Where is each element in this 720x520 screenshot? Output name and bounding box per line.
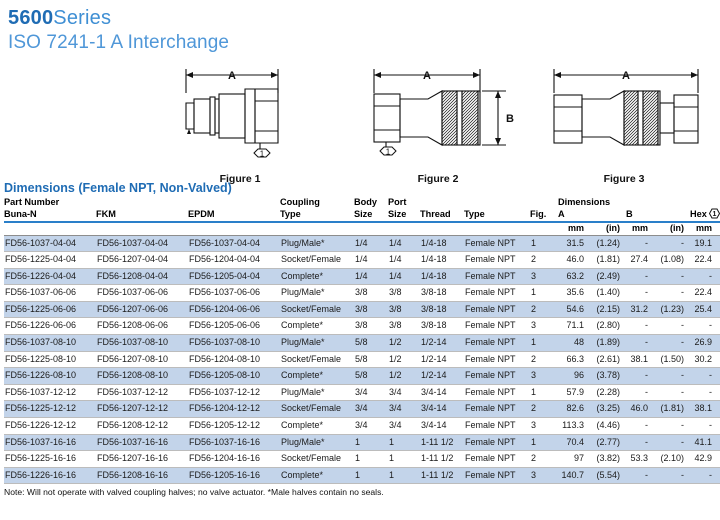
cell-figure-ref: 3 — [530, 418, 558, 435]
table-header-row-2: Buna-N FKM EPDM Type Size Size Thread Ty… — [4, 208, 720, 220]
cell-dim-b-mm: 27.4 — [626, 252, 654, 269]
cell-dim-a-mm: 35.6 — [558, 285, 590, 302]
cell-figure-ref: 3 — [530, 467, 558, 484]
cell-port-size: 1/4 — [388, 235, 420, 252]
table-row: FD56-1037-08-10FD56-1037-08-10FD56-1037-… — [4, 335, 720, 352]
cell-coupling-type: Socket/Female — [280, 252, 354, 269]
cell-coupling-type: Complete* — [280, 467, 354, 484]
cell-part-number-epdm: FD56-1037-04-04 — [188, 235, 280, 252]
table-row: FD56-1037-16-16FD56-1037-16-16FD56-1037-… — [4, 434, 720, 451]
cell-thread: 1/4-18 — [420, 235, 464, 252]
cell-dim-a-mm: 48 — [558, 335, 590, 352]
cell-dim-hex-mm: 30.2 — [690, 351, 718, 368]
svg-text:1: 1 — [260, 150, 265, 159]
cell-dim-hex-mm: 22.4 — [690, 285, 718, 302]
table-row: FD56-1226-12-12FD56-1208-12-12FD56-1205-… — [4, 418, 720, 435]
cell-part-number-epdm: FD56-1204-04-04 — [188, 252, 280, 269]
table-footnote: Note: Will not operate with valved coupl… — [4, 487, 720, 497]
cell-type: Female NPT — [464, 418, 530, 435]
cell-dim-a-in: (1.40) — [590, 285, 626, 302]
cell-dim-b-mm: - — [626, 368, 654, 385]
cell-thread: 3/8-18 — [420, 285, 464, 302]
cell-dim-hex-mm: - — [690, 467, 718, 484]
cell-type: Female NPT — [464, 252, 530, 269]
cell-body-size: 1 — [354, 451, 388, 468]
cell-dim-hex-mm: - — [690, 368, 718, 385]
cell-dim-b-mm: - — [626, 335, 654, 352]
cell-type: Female NPT — [464, 451, 530, 468]
cell-part-number-buna: FD56-1226-16-16 — [4, 467, 96, 484]
cell-dim-a-mm: 140.7 — [558, 467, 590, 484]
cell-part-number-fkm: FD56-1207-08-10 — [96, 351, 188, 368]
cell-thread: 1/4-18 — [420, 252, 464, 269]
cell-dim-hex-mm: 42.9 — [690, 451, 718, 468]
figure-1: 1 A Figure 1 — [160, 61, 320, 185]
cell-part-number-epdm: FD56-1205-04-04 — [188, 268, 280, 285]
cell-type: Female NPT — [464, 318, 530, 335]
figure-1-callout: 1 — [254, 149, 270, 159]
cell-type: Female NPT — [464, 235, 530, 252]
header-body-size-1: Body — [354, 197, 388, 208]
cell-part-number-fkm: FD56-1037-08-10 — [96, 335, 188, 352]
cell-dim-b-in: - — [654, 318, 690, 335]
cell-type: Female NPT — [464, 268, 530, 285]
figure-2-dim-b: B — [506, 113, 514, 125]
cell-dim-b-in: - — [654, 285, 690, 302]
cell-part-number-fkm: FD56-1207-12-12 — [96, 401, 188, 418]
cell-dim-a-in: (5.54) — [590, 467, 626, 484]
cell-dim-b-mm: - — [626, 384, 654, 401]
cell-dim-a-mm: 96 — [558, 368, 590, 385]
cell-part-number-buna: FD56-1225-06-06 — [4, 301, 96, 318]
table-row: FD56-1226-16-16FD56-1208-16-16FD56-1205-… — [4, 467, 720, 484]
figure-gallery: 1 A Figure 1 — [0, 61, 720, 181]
header-thread: Thread — [420, 208, 464, 220]
cell-type: Female NPT — [464, 301, 530, 318]
cell-type: Female NPT — [464, 335, 530, 352]
cell-part-number-fkm: FD56-1037-12-12 — [96, 384, 188, 401]
cell-port-size: 3/8 — [388, 318, 420, 335]
cell-part-number-fkm: FD56-1207-06-06 — [96, 301, 188, 318]
title-line-primary: 5600Series — [8, 6, 720, 30]
cell-body-size: 3/8 — [354, 301, 388, 318]
cell-dim-a-mm: 82.6 — [558, 401, 590, 418]
cell-dim-hex-mm: - — [690, 268, 718, 285]
cell-part-number-buna: FD56-1226-08-10 — [4, 368, 96, 385]
cell-dim-b-mm: - — [626, 467, 654, 484]
svg-text:1: 1 — [712, 211, 716, 218]
cell-port-size: 1/4 — [388, 268, 420, 285]
cell-body-size: 3/8 — [354, 285, 388, 302]
cell-thread: 1/2-14 — [420, 335, 464, 352]
title-subtitle: ISO 7241-1 A Interchange — [8, 31, 720, 55]
cell-body-size: 3/4 — [354, 384, 388, 401]
cell-dim-hex-mm: 19.1 — [690, 235, 718, 252]
cell-dim-a-in: (4.46) — [590, 418, 626, 435]
figure-1-caption: Figure 1 — [160, 173, 320, 185]
cell-coupling-type: Plug/Male* — [280, 235, 354, 252]
cell-dim-b-mm: - — [626, 235, 654, 252]
cell-body-size: 3/8 — [354, 318, 388, 335]
unit-a-mm: mm — [558, 222, 590, 234]
cell-dim-a-in: (2.15) — [590, 301, 626, 318]
cell-port-size: 3/8 — [388, 301, 420, 318]
cell-dim-a-mm: 97 — [558, 451, 590, 468]
unit-a-in: (in) — [590, 222, 626, 234]
table-units-row: mm (in) mm (in) mm (in) — [4, 222, 720, 234]
cell-type: Female NPT — [464, 434, 530, 451]
cell-part-number-fkm: FD56-1207-04-04 — [96, 252, 188, 269]
cell-body-size: 1/4 — [354, 268, 388, 285]
figure-1-drawing: 1 A — [160, 61, 320, 171]
cell-body-size: 1 — [354, 467, 388, 484]
cell-part-number-epdm: FD56-1204-06-06 — [188, 301, 280, 318]
cell-part-number-fkm: FD56-1208-06-06 — [96, 318, 188, 335]
cell-coupling-type: Plug/Male* — [280, 384, 354, 401]
cell-dim-b-in: (1.81) — [654, 401, 690, 418]
cell-dim-b-in: - — [654, 368, 690, 385]
cell-figure-ref: 1 — [530, 384, 558, 401]
cell-type: Female NPT — [464, 467, 530, 484]
cell-part-number-buna: FD56-1037-08-10 — [4, 335, 96, 352]
table-row: FD56-1226-04-04FD56-1208-04-04FD56-1205-… — [4, 268, 720, 285]
cell-dim-a-mm: 63.2 — [558, 268, 590, 285]
cell-dim-a-mm: 71.1 — [558, 318, 590, 335]
cell-part-number-fkm: FD56-1037-16-16 — [96, 434, 188, 451]
cell-figure-ref: 2 — [530, 301, 558, 318]
table-row: FD56-1225-12-12FD56-1207-12-12FD56-1204-… — [4, 401, 720, 418]
unit-hex-mm: mm — [690, 222, 718, 234]
cell-coupling-type: Plug/Male* — [280, 434, 354, 451]
cell-part-number-buna: FD56-1226-06-06 — [4, 318, 96, 335]
header-dim-b: B — [626, 208, 690, 220]
series-number: 5600 — [8, 7, 53, 29]
cell-dim-b-mm: 53.3 — [626, 451, 654, 468]
figure-3-drawing: A — [536, 61, 712, 171]
cell-coupling-type: Complete* — [280, 268, 354, 285]
unit-b-mm: mm — [626, 222, 654, 234]
cell-coupling-type: Complete* — [280, 418, 354, 435]
cell-thread: 1/2-14 — [420, 368, 464, 385]
cell-part-number-buna: FD56-1225-04-04 — [4, 252, 96, 269]
figure-2-caption: Figure 2 — [352, 173, 524, 185]
cell-dim-b-in: - — [654, 467, 690, 484]
cell-figure-ref: 3 — [530, 318, 558, 335]
cell-thread: 1/4-18 — [420, 268, 464, 285]
cell-part-number-fkm: FD56-1037-04-04 — [96, 235, 188, 252]
header-dimensions: Dimensions — [558, 197, 626, 208]
cell-dim-a-mm: 31.5 — [558, 235, 590, 252]
cell-type: Female NPT — [464, 285, 530, 302]
cell-coupling-type: Socket/Female — [280, 301, 354, 318]
hex-callout-icon: 1 — [709, 208, 720, 219]
svg-text:1: 1 — [386, 148, 391, 157]
table-row: FD56-1225-04-04FD56-1207-04-04FD56-1204-… — [4, 252, 720, 269]
cell-dim-hex-mm: 41.1 — [690, 434, 718, 451]
header-buna-n: Buna-N — [4, 208, 96, 220]
cell-dim-b-in: - — [654, 335, 690, 352]
cell-port-size: 3/4 — [388, 401, 420, 418]
cell-dim-a-mm: 66.3 — [558, 351, 590, 368]
cell-port-size: 3/4 — [388, 418, 420, 435]
header-port-size-1: Port — [388, 197, 420, 208]
figure-1-dim-a: A — [228, 70, 236, 82]
cell-type: Female NPT — [464, 368, 530, 385]
cell-dim-a-in: (1.81) — [590, 252, 626, 269]
cell-thread: 3/4-14 — [420, 384, 464, 401]
cell-thread: 1-11 1/2 — [420, 451, 464, 468]
cell-port-size: 3/4 — [388, 384, 420, 401]
cell-dim-b-in: (2.10) — [654, 451, 690, 468]
header-port-size-2: Size — [388, 208, 420, 220]
cell-dim-b-in: - — [654, 384, 690, 401]
cell-dim-b-mm: - — [626, 434, 654, 451]
cell-port-size: 1/2 — [388, 351, 420, 368]
cell-dim-a-mm: 70.4 — [558, 434, 590, 451]
header-type: Type — [464, 208, 530, 220]
cell-coupling-type: Plug/Male* — [280, 335, 354, 352]
cell-dim-a-in: (1.24) — [590, 235, 626, 252]
cell-part-number-epdm: FD56-1205-16-16 — [188, 467, 280, 484]
cell-figure-ref: 2 — [530, 451, 558, 468]
cell-thread: 3/4-14 — [420, 418, 464, 435]
cell-port-size: 3/8 — [388, 285, 420, 302]
figure-2-callout: 1 — [380, 147, 396, 157]
cell-body-size: 1 — [354, 434, 388, 451]
cell-dim-a-in: (3.78) — [590, 368, 626, 385]
cell-thread: 1-11 1/2 — [420, 434, 464, 451]
table-row: FD56-1037-12-12FD56-1037-12-12FD56-1037-… — [4, 384, 720, 401]
cell-part-number-epdm: FD56-1205-06-06 — [188, 318, 280, 335]
cell-thread: 1/2-14 — [420, 351, 464, 368]
cell-figure-ref: 1 — [530, 235, 558, 252]
cell-port-size: 1 — [388, 434, 420, 451]
cell-part-number-buna: FD56-1225-08-10 — [4, 351, 96, 368]
table-row: FD56-1226-06-06FD56-1208-06-06FD56-1205-… — [4, 318, 720, 335]
header-epdm: EPDM — [188, 208, 280, 220]
cell-figure-ref: 2 — [530, 252, 558, 269]
figure-2: 1 A B Figure 2 — [352, 61, 524, 185]
cell-coupling-type: Socket/Female — [280, 351, 354, 368]
header-coupling-type-1: Coupling — [280, 197, 354, 208]
cell-dim-b-in: (1.08) — [654, 252, 690, 269]
cell-dim-a-mm: 57.9 — [558, 384, 590, 401]
cell-body-size: 3/4 — [354, 401, 388, 418]
cell-coupling-type: Complete* — [280, 368, 354, 385]
table-body: FD56-1037-04-04FD56-1037-04-04FD56-1037-… — [4, 235, 720, 484]
cell-body-size: 1/4 — [354, 235, 388, 252]
cell-dim-a-in: (3.82) — [590, 451, 626, 468]
cell-dim-a-mm: 46.0 — [558, 252, 590, 269]
cell-dim-a-in: (2.49) — [590, 268, 626, 285]
cell-coupling-type: Plug/Male* — [280, 285, 354, 302]
cell-dim-b-mm: - — [626, 268, 654, 285]
cell-part-number-epdm: FD56-1204-08-10 — [188, 351, 280, 368]
cell-thread: 3/8-18 — [420, 318, 464, 335]
cell-figure-ref: 1 — [530, 285, 558, 302]
cell-part-number-epdm: FD56-1204-12-12 — [188, 401, 280, 418]
cell-dim-b-mm: - — [626, 418, 654, 435]
cell-dim-b-in: - — [654, 418, 690, 435]
table-header-row-1: Part Number Coupling Body Port Dimension… — [4, 197, 720, 208]
table-row: FD56-1225-06-06FD56-1207-06-06FD56-1204-… — [4, 301, 720, 318]
cell-thread: 1-11 1/2 — [420, 467, 464, 484]
cell-figure-ref: 1 — [530, 434, 558, 451]
cell-part-number-epdm: FD56-1037-08-10 — [188, 335, 280, 352]
figure-2-drawing: 1 A B — [352, 61, 524, 171]
cell-body-size: 5/8 — [354, 368, 388, 385]
header-hex-label: Hex — [690, 209, 707, 219]
cell-dim-b-mm: 46.0 — [626, 401, 654, 418]
cell-part-number-buna: FD56-1225-16-16 — [4, 451, 96, 468]
cell-part-number-epdm: FD56-1037-06-06 — [188, 285, 280, 302]
cell-type: Female NPT — [464, 384, 530, 401]
cell-dim-hex-mm: - — [690, 318, 718, 335]
cell-dim-a-in: (1.89) — [590, 335, 626, 352]
cell-part-number-buna: FD56-1037-16-16 — [4, 434, 96, 451]
cell-dim-a-in: (2.61) — [590, 351, 626, 368]
cell-dim-b-in: (1.50) — [654, 351, 690, 368]
cell-part-number-epdm: FD56-1205-12-12 — [188, 418, 280, 435]
cell-body-size: 1/4 — [354, 252, 388, 269]
cell-part-number-epdm: FD56-1205-08-10 — [188, 368, 280, 385]
cell-part-number-fkm: FD56-1208-16-16 — [96, 467, 188, 484]
header-body-size-2: Size — [354, 208, 388, 220]
cell-port-size: 1/2 — [388, 368, 420, 385]
cell-body-size: 5/8 — [354, 335, 388, 352]
figure-3-caption: Figure 3 — [536, 173, 712, 185]
cell-figure-ref: 1 — [530, 335, 558, 352]
cell-dim-hex-mm: - — [690, 384, 718, 401]
header-coupling-type-2: Type — [280, 208, 354, 220]
table-row: FD56-1225-08-10FD56-1207-08-10FD56-1204-… — [4, 351, 720, 368]
cell-part-number-buna: FD56-1226-12-12 — [4, 418, 96, 435]
cell-coupling-type: Socket/Female — [280, 451, 354, 468]
cell-type: Female NPT — [464, 401, 530, 418]
cell-part-number-fkm: FD56-1207-16-16 — [96, 451, 188, 468]
cell-dim-a-in: (3.25) — [590, 401, 626, 418]
cell-port-size: 1 — [388, 467, 420, 484]
cell-part-number-epdm: FD56-1037-16-16 — [188, 434, 280, 451]
unit-b-in: (in) — [654, 222, 690, 234]
cell-figure-ref: 3 — [530, 368, 558, 385]
cell-dim-b-in: (1.23) — [654, 301, 690, 318]
figure-3: A Figure 3 — [536, 61, 712, 185]
table-row: FD56-1037-06-06FD56-1037-06-06FD56-1037-… — [4, 285, 720, 302]
header-dim-hex: Hex1 — [690, 208, 720, 220]
cell-body-size: 3/4 — [354, 418, 388, 435]
cell-figure-ref: 2 — [530, 401, 558, 418]
cell-coupling-type: Socket/Female — [280, 401, 354, 418]
cell-part-number-fkm: FD56-1208-12-12 — [96, 418, 188, 435]
cell-thread: 3/8-18 — [420, 301, 464, 318]
cell-dim-a-mm: 113.3 — [558, 418, 590, 435]
cell-dim-b-in: - — [654, 434, 690, 451]
table-row: FD56-1037-04-04FD56-1037-04-04FD56-1037-… — [4, 235, 720, 252]
cell-figure-ref: 3 — [530, 268, 558, 285]
cell-port-size: 1 — [388, 451, 420, 468]
cell-dim-hex-mm: 22.4 — [690, 252, 718, 269]
cell-part-number-buna: FD56-1037-12-12 — [4, 384, 96, 401]
cell-dim-b-mm: 38.1 — [626, 351, 654, 368]
cell-part-number-buna: FD56-1225-12-12 — [4, 401, 96, 418]
cell-part-number-fkm: FD56-1037-06-06 — [96, 285, 188, 302]
cell-part-number-buna: FD56-1037-04-04 — [4, 235, 96, 252]
cell-dim-b-mm: 31.2 — [626, 301, 654, 318]
cell-dim-b-mm: - — [626, 285, 654, 302]
cell-part-number-epdm: FD56-1037-12-12 — [188, 384, 280, 401]
cell-dim-b-mm: - — [626, 318, 654, 335]
cell-dim-hex-mm: 25.4 — [690, 301, 718, 318]
cell-part-number-buna: FD56-1226-04-04 — [4, 268, 96, 285]
cell-dim-b-in: - — [654, 268, 690, 285]
cell-part-number-epdm: FD56-1204-16-16 — [188, 451, 280, 468]
figure-3-dim-a: A — [622, 70, 630, 82]
series-word: Series — [53, 7, 111, 29]
table-row: FD56-1226-08-10FD56-1208-08-10FD56-1205-… — [4, 368, 720, 385]
dimensions-table: Part Number Coupling Body Port Dimension… — [4, 197, 720, 484]
table-row: FD56-1225-16-16FD56-1207-16-16FD56-1204-… — [4, 451, 720, 468]
header-dim-a: A — [558, 208, 626, 220]
cell-dim-a-in: (2.80) — [590, 318, 626, 335]
cell-dim-hex-mm: 26.9 — [690, 335, 718, 352]
cell-port-size: 1/4 — [388, 252, 420, 269]
figure-2-dim-a: A — [423, 70, 431, 82]
cell-thread: 3/4-14 — [420, 401, 464, 418]
cell-part-number-fkm: FD56-1208-08-10 — [96, 368, 188, 385]
cell-dim-a-mm: 54.6 — [558, 301, 590, 318]
cell-type: Female NPT — [464, 351, 530, 368]
cell-dim-hex-mm: - — [690, 418, 718, 435]
cell-dim-hex-mm: 38.1 — [690, 401, 718, 418]
cell-dim-b-in: - — [654, 235, 690, 252]
cell-body-size: 5/8 — [354, 351, 388, 368]
cell-dim-a-in: (2.28) — [590, 384, 626, 401]
cell-figure-ref: 2 — [530, 351, 558, 368]
header-part-number: Part Number — [4, 197, 96, 208]
header-fig: Fig. — [530, 208, 558, 220]
cell-part-number-fkm: FD56-1208-04-04 — [96, 268, 188, 285]
page-title: 5600Series ISO 7241-1 A Interchange — [0, 0, 720, 55]
header-fkm: FKM — [96, 208, 188, 220]
cell-coupling-type: Complete* — [280, 318, 354, 335]
cell-dim-a-in: (2.77) — [590, 434, 626, 451]
cell-part-number-buna: FD56-1037-06-06 — [4, 285, 96, 302]
cell-port-size: 1/2 — [388, 335, 420, 352]
